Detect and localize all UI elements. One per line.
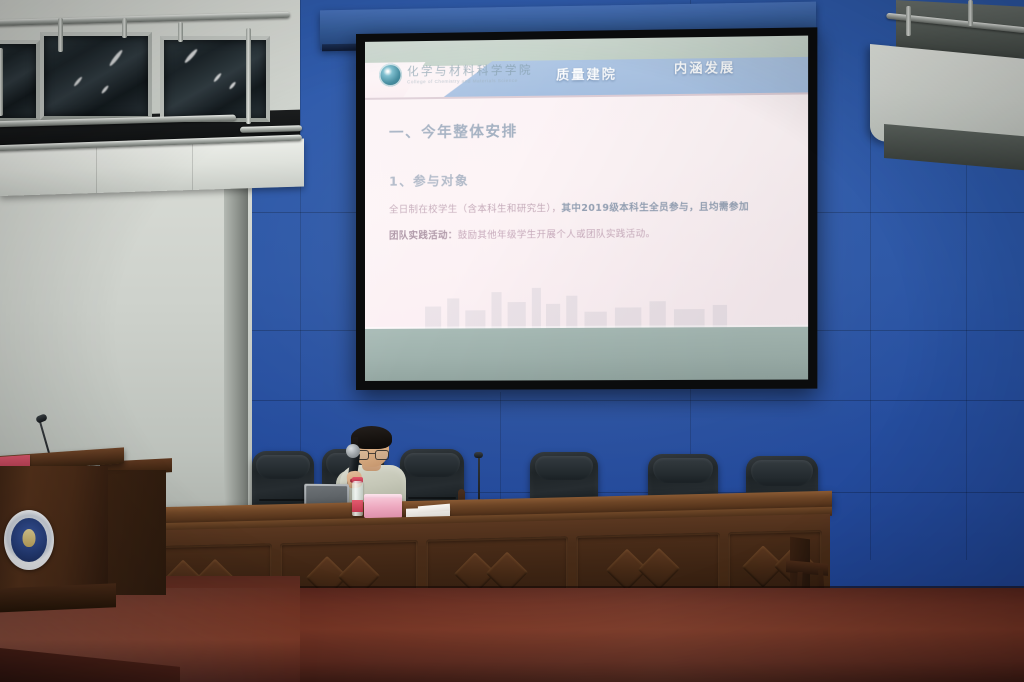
railing-post	[0, 48, 3, 116]
slide-body-line-1-plain: 全日制在校学生（含本科生和研究生），	[389, 203, 561, 216]
chair-headrest	[751, 460, 813, 486]
tissue-box[interactable]	[364, 498, 402, 518]
wall-pillar	[224, 152, 248, 550]
slide-body-line-1-bold: 其中2019级本科生全员参与，且均需参加	[561, 201, 749, 214]
railing-post	[906, 6, 911, 36]
balcony-glass-panel	[0, 40, 40, 122]
slide-banner-left: 质量建院	[556, 64, 617, 84]
balcony-glass-panel	[160, 36, 270, 122]
railing-post	[178, 22, 183, 42]
railing-post	[246, 28, 251, 124]
college-name-en: College of Chemistry and Materials Scien…	[407, 77, 533, 84]
water-bottle-label	[352, 500, 363, 512]
glasses-lens-right	[375, 450, 389, 460]
slide-body-line-2-plain: 鼓励其他年级学生开展个人或团队实践活动。	[458, 229, 656, 242]
chair-headrest	[535, 456, 593, 480]
chair-seam	[259, 499, 306, 501]
parapet-seam	[96, 145, 97, 193]
slide-banner-right: 内涵发展	[674, 57, 735, 77]
wall-seam	[966, 120, 967, 560]
table-diamond-carving	[638, 548, 680, 590]
balcony-glass-panel	[40, 32, 152, 120]
slide-footer-band	[365, 327, 808, 381]
slide-heading: 一、今年整体安排	[389, 120, 518, 143]
glass-gleam-icon	[101, 85, 110, 95]
chair-headrest	[256, 455, 309, 479]
chair-seam	[408, 497, 457, 499]
chair-headrest	[653, 458, 713, 483]
microphone-head-icon	[346, 444, 360, 458]
college-logo: 化学与材料科学学院 College of Chemistry and Mater…	[379, 62, 533, 87]
slide-body-line-2-bold: 团队实践活动：	[389, 230, 458, 242]
podium-side-panel	[104, 470, 166, 595]
wall-seam	[870, 120, 871, 560]
projection-screen-surface: 化学与材料科学学院 College of Chemistry and Mater…	[365, 36, 808, 381]
college-logo-text: 化学与材料科学学院 College of Chemistry and Mater…	[407, 64, 533, 84]
parapet-seam	[192, 142, 193, 190]
glass-gleam-icon	[108, 49, 123, 67]
slide-body-line-2: 团队实践活动：鼓励其他年级学生开展个人或团队实践活动。	[389, 226, 656, 242]
crest-figure-icon	[23, 529, 36, 547]
glass-gleam-icon	[228, 81, 236, 90]
desk-microphone-head-icon	[474, 452, 483, 458]
glasses-bridge	[368, 453, 375, 454]
glass-gleam-icon	[183, 48, 198, 64]
lecture-hall-screenshot: 化学与材料科学学院 College of Chemistry and Mater…	[0, 0, 1024, 682]
slide-skyline-watermark	[365, 282, 808, 329]
college-emblem-icon	[379, 63, 402, 86]
glass-gleam-icon	[73, 76, 83, 87]
glass-gleam-icon	[213, 72, 222, 82]
railing-post	[122, 18, 127, 38]
railing-post	[58, 18, 63, 52]
railing-post	[968, 0, 973, 26]
chair-headrest	[404, 453, 459, 477]
podium-university-crest	[4, 510, 54, 570]
college-name-cn: 化学与材料科学学院	[407, 64, 533, 78]
projection-screen: 化学与材料科学学院 College of Chemistry and Mater…	[356, 27, 817, 390]
slide-subheading: 1、参与对象	[389, 170, 469, 190]
